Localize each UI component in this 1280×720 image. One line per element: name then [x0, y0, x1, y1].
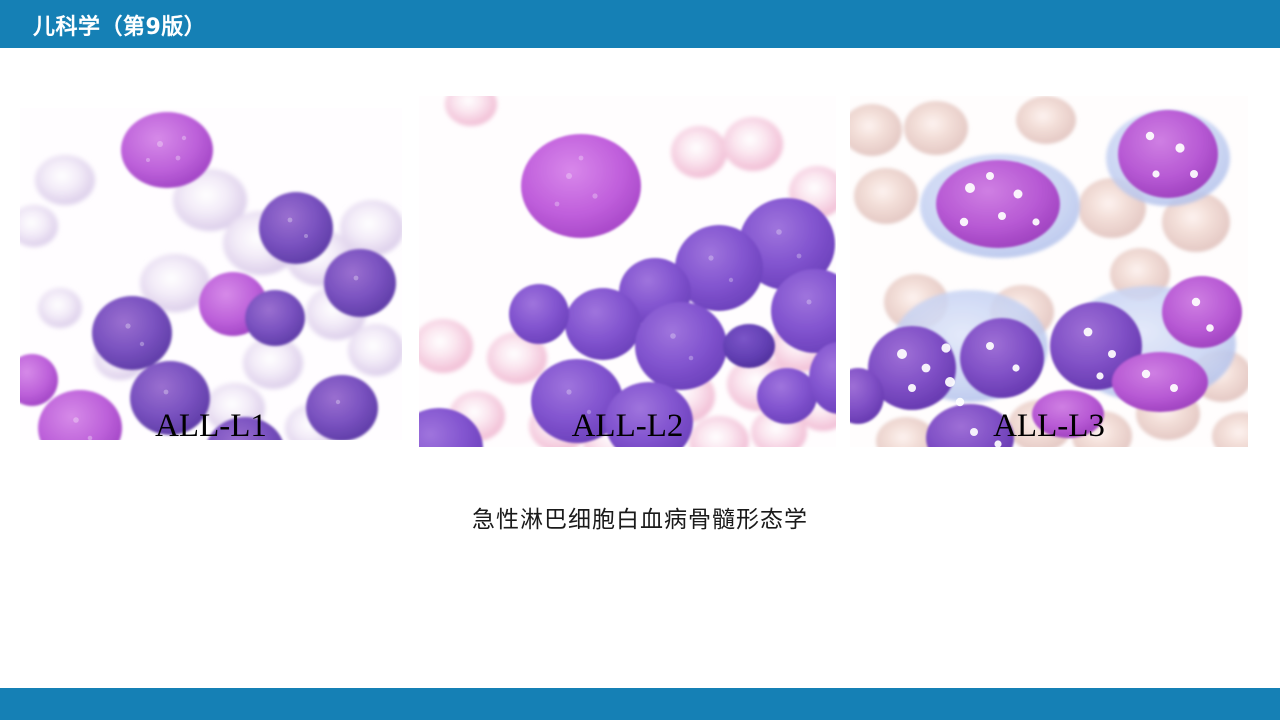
micrograph-all-l3: [850, 96, 1248, 447]
micrograph-all-l1: [20, 108, 402, 440]
micrograph-image-l2: [419, 96, 836, 447]
slide-header-title: 儿科学（第9版）: [33, 9, 206, 41]
slide-header-bar: 儿科学（第9版）: [0, 0, 1280, 48]
micrograph-image-l1: [20, 108, 402, 440]
slide-content-area: ALL-L1 ALL-L2 ALL-L3 急性淋巴细胞白血病骨髓形态学: [0, 48, 1280, 688]
micrograph-all-l2: [419, 96, 836, 447]
micrograph-image-l3: [850, 96, 1248, 447]
figure-caption-l1: ALL-L1: [20, 410, 402, 443]
slide-footer-bar: [0, 688, 1280, 720]
figure-caption-l2: ALL-L2: [419, 410, 836, 443]
slide-main-caption: 急性淋巴细胞白血病骨髓形态学: [0, 500, 1280, 534]
figure-caption-l3: ALL-L3: [850, 410, 1248, 443]
